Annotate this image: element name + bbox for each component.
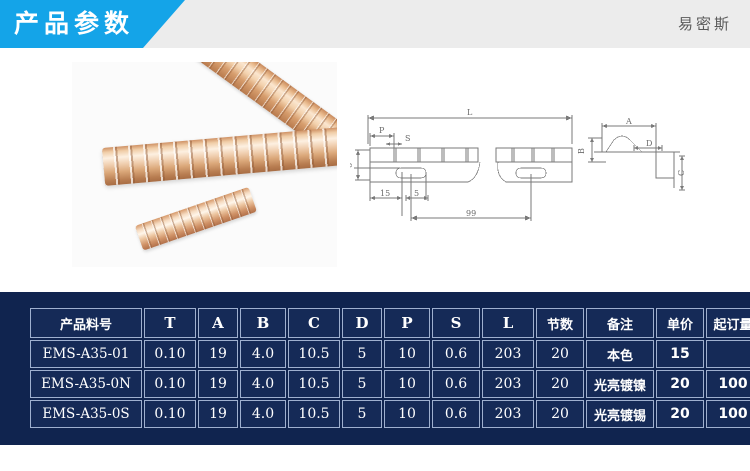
photo-strip-lower	[135, 187, 257, 251]
cell-p: 10	[384, 400, 430, 428]
product-photo	[72, 62, 337, 267]
cell-t: 0.10	[144, 400, 196, 428]
cell-c: 10.5	[288, 370, 340, 398]
table-row: EMS-A35-0N 0.10 19 4.0 10.5 5 10 0.6 203…	[30, 370, 750, 398]
cell-c: 10.5	[288, 400, 340, 428]
cell-s: 0.6	[432, 370, 480, 398]
cell-remark: 本色	[586, 340, 654, 368]
column-header-moq: 起订量	[706, 308, 750, 338]
cell-c: 10.5	[288, 340, 340, 368]
cell-price: 20	[656, 400, 704, 428]
page-header: 产品参数 易密斯	[0, 0, 750, 48]
section-title-banner: 产品参数	[0, 0, 185, 48]
cell-price: 20	[656, 370, 704, 398]
cell-partno: EMS-A35-0S	[30, 400, 142, 428]
brand-name: 易密斯	[678, 13, 732, 34]
column-header-s: S	[432, 308, 480, 338]
column-header-t: T	[144, 308, 196, 338]
cell-b: 4.0	[240, 340, 286, 368]
dim-label-L: L	[467, 108, 473, 117]
cell-d: 5	[342, 370, 382, 398]
dim-label-99: 99	[466, 209, 476, 218]
cell-t: 0.10	[144, 340, 196, 368]
table-row: EMS-A35-01 0.10 19 4.0 10.5 5 10 0.6 203…	[30, 340, 750, 368]
dim-label-B: B	[577, 148, 586, 154]
column-header-l: L	[482, 308, 534, 338]
footer-spacer	[0, 445, 750, 471]
dim-label-height: 6	[350, 163, 354, 168]
dim-label-A: A	[625, 117, 632, 126]
column-header-a: A	[198, 308, 238, 338]
cell-p: 10	[384, 370, 430, 398]
cell-moq: 100	[706, 400, 750, 428]
drawing-svg: L P S 6 15 5 99 A D B C	[350, 106, 740, 231]
finger-pattern-main	[102, 127, 337, 186]
spec-table: 产品料号 T A B C D P S L 节数 备注 单价 起订量 EMS-	[28, 306, 750, 430]
cell-t: 0.10	[144, 370, 196, 398]
cell-sections: 20	[536, 400, 584, 428]
column-header-price: 单价	[656, 308, 704, 338]
dim-label-C: C	[677, 170, 686, 176]
cell-l: 203	[482, 340, 534, 368]
table-row: EMS-A35-0S 0.10 19 4.0 10.5 5 10 0.6 203…	[30, 400, 750, 428]
column-header-remark: 备注	[586, 308, 654, 338]
dim-label-S: S	[405, 134, 410, 143]
cell-partno: EMS-A35-0N	[30, 370, 142, 398]
cell-remark: 光亮镀镍	[586, 370, 654, 398]
dim-label-D: D	[646, 139, 652, 148]
cell-l: 203	[482, 370, 534, 398]
column-header-partno: 产品料号	[30, 308, 142, 338]
cell-d: 5	[342, 400, 382, 428]
cell-s: 0.6	[432, 400, 480, 428]
media-area: L P S 6 15 5 99 A D B C	[0, 48, 750, 290]
column-header-d: D	[342, 308, 382, 338]
cell-a: 19	[198, 400, 238, 428]
cell-b: 4.0	[240, 400, 286, 428]
cell-a: 19	[198, 340, 238, 368]
dim-label-P: P	[379, 126, 385, 135]
column-header-sections: 节数	[536, 308, 584, 338]
technical-drawing: L P S 6 15 5 99 A D B C	[350, 106, 740, 231]
cell-price: 15	[656, 340, 704, 368]
cell-moq: 100	[706, 370, 750, 398]
cell-a: 19	[198, 370, 238, 398]
cell-p: 10	[384, 340, 430, 368]
page-title: 产品参数	[14, 8, 134, 40]
column-header-c: C	[288, 308, 340, 338]
column-header-p: P	[384, 308, 430, 338]
dim-label-5: 5	[414, 189, 419, 198]
cell-d: 5	[342, 340, 382, 368]
column-header-b: B	[240, 308, 286, 338]
cell-partno: EMS-A35-01	[30, 340, 142, 368]
spec-table-wrapper: 产品料号 T A B C D P S L 节数 备注 单价 起订量 EMS-	[28, 306, 722, 430]
spec-table-block: 产品料号 T A B C D P S L 节数 备注 单价 起订量 EMS-	[0, 290, 750, 445]
cell-l: 203	[482, 400, 534, 428]
dim-label-15: 15	[380, 189, 390, 198]
table-header-row: 产品料号 T A B C D P S L 节数 备注 单价 起订量	[30, 308, 750, 338]
photo-strip-main	[102, 127, 337, 186]
cell-s: 0.6	[432, 340, 480, 368]
cell-sections: 20	[536, 340, 584, 368]
cell-moq	[706, 340, 750, 368]
cell-remark: 光亮镀锡	[586, 400, 654, 428]
cell-sections: 20	[536, 370, 584, 398]
cell-b: 4.0	[240, 370, 286, 398]
finger-pattern-lower	[135, 187, 257, 251]
